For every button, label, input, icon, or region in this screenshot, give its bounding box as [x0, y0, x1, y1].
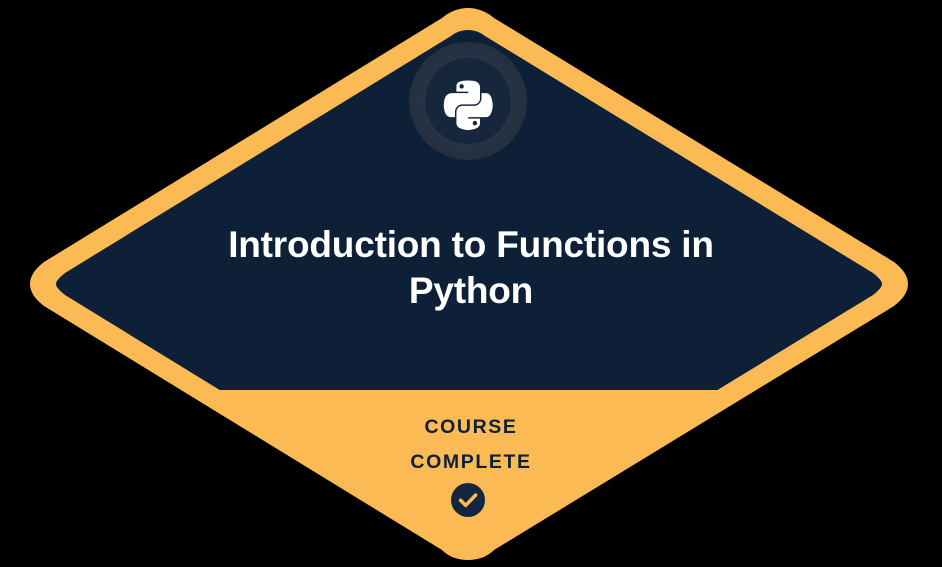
course-completion-badge: Introduction to Functions in Python COUR…: [0, 0, 942, 567]
check-circle-icon: [451, 483, 485, 517]
course-title: Introduction to Functions in Python: [171, 222, 771, 314]
diamond-navy-field: [0, 0, 942, 390]
completion-status-label: COURSE COMPLETE: [271, 410, 671, 480]
